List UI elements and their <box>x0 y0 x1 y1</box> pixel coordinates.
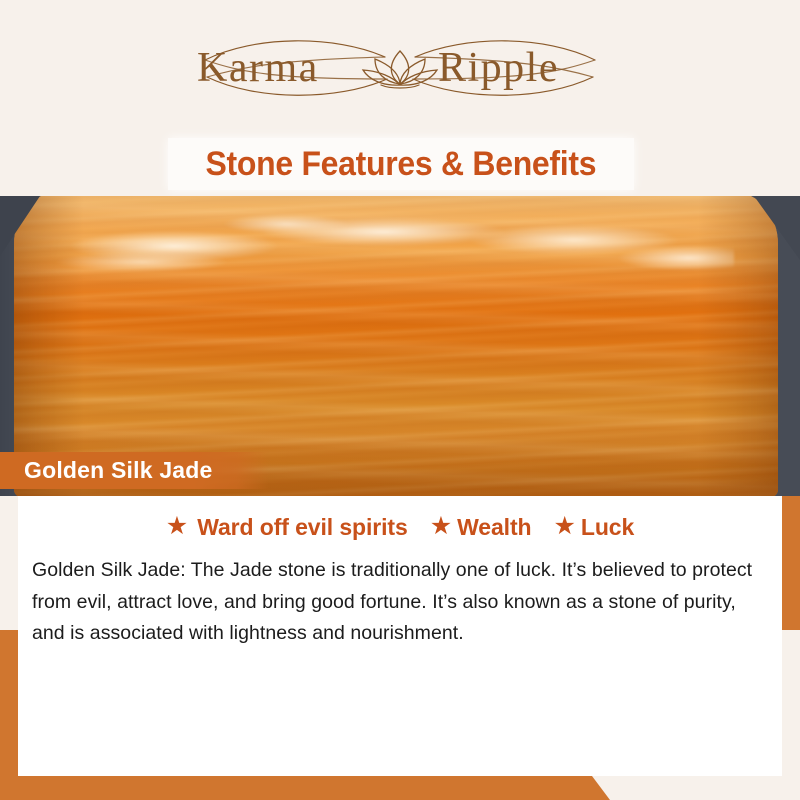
stone-name-label: Golden Silk Jade <box>24 457 213 484</box>
benefit-item-luck: ★ Luck <box>553 514 634 541</box>
brand-name-right: Ripple <box>438 45 559 91</box>
stone-description: Golden Silk Jade: The Jade stone is trad… <box>32 555 768 650</box>
benefit-label: Luck <box>581 514 634 541</box>
jade-stone-image <box>14 196 778 496</box>
content-panel: ★ Ward off evil spirits ★ Wealth ★ Luck … <box>18 496 782 776</box>
title-banner: Stone Features & Benefits <box>168 138 634 190</box>
benefit-item-ward-off-evil-spirits: ★ Ward off evil spirits <box>166 514 408 541</box>
star-icon: ★ <box>553 514 575 539</box>
brand-logo: Karma Ripple <box>0 27 800 109</box>
benefit-label: Ward off evil spirits <box>197 514 407 541</box>
header: Karma Ripple Stone Features & Benefits <box>0 0 800 196</box>
lotus-icon: Karma Ripple <box>185 27 615 109</box>
frame-left-accent <box>0 630 18 800</box>
star-icon: ★ <box>430 514 452 539</box>
benefits-list: ★ Ward off evil spirits ★ Wealth ★ Luck <box>18 496 782 541</box>
stone-name-badge: Golden Silk Jade <box>0 452 269 489</box>
brand-name-left: Karma <box>197 45 319 91</box>
page-title: Stone Features & Benefits <box>206 145 597 184</box>
benefit-label: Wealth <box>457 514 531 541</box>
star-icon: ★ <box>166 514 188 539</box>
frame-bottom-accent <box>0 776 800 800</box>
product-photo: Golden Silk Jade <box>0 196 800 496</box>
infographic-card: Karma Ripple Stone Features & Benefits G… <box>0 0 800 800</box>
benefit-item-wealth: ★ Wealth <box>430 514 532 541</box>
